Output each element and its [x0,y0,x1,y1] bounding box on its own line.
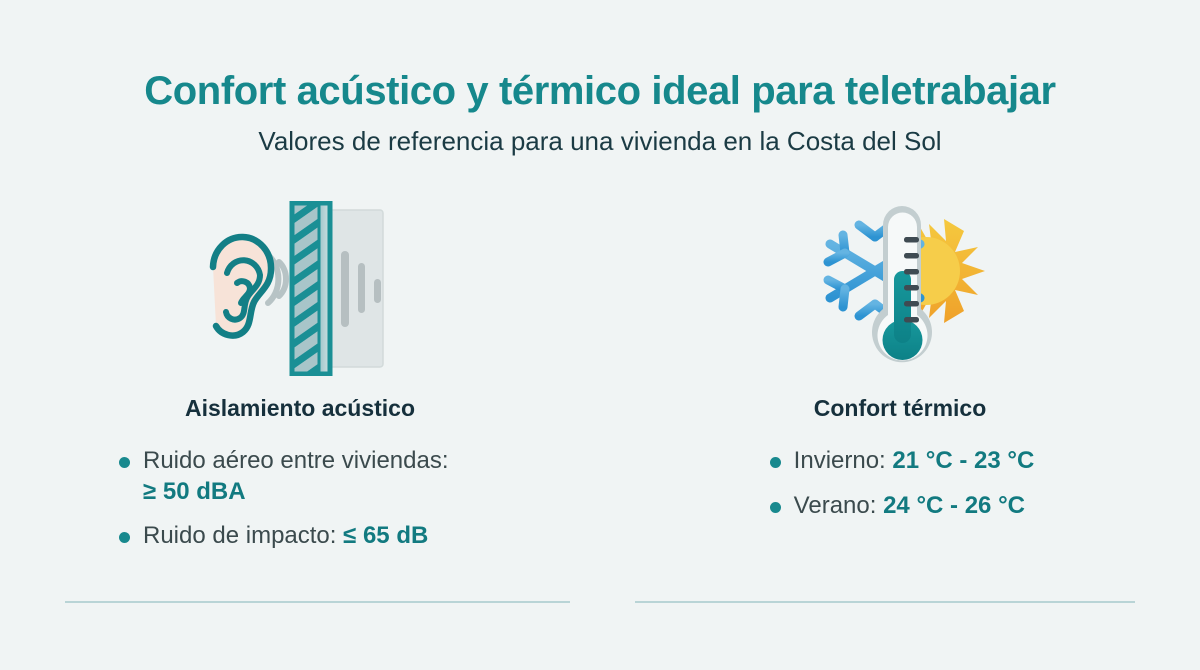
list-item: Ruido aéreo entre viviendas: ≥ 50 dBA [119,446,473,507]
bullet-text: Invierno: 21 °C - 23 °C [794,446,1035,477]
divider-right [635,601,1135,603]
bullet-dot-icon [119,457,130,468]
bullet-value: ≤ 65 dB [343,522,428,549]
bullet-value: 21 °C - 23 °C [892,447,1034,474]
bullet-value: 24 °C - 26 °C [883,492,1025,519]
ear-soundwave-wall-icon [195,196,405,381]
bullet-text: Ruido aéreo entre viviendas: ≥ 50 dBA [143,446,473,507]
infographic-canvas: Confort acústico y térmico ideal para te… [0,0,1200,670]
page-subtitle: Valores de referencia para una vivienda … [0,126,1200,157]
page-title: Confort acústico y térmico ideal para te… [0,68,1200,114]
section-thermal: Confort térmico Invierno: 21 °C - 23 °C … [600,196,1200,552]
section-heading-thermal: Confort térmico [814,395,987,422]
list-item: Ruido de impacto: ≤ 65 dB [119,521,473,552]
bullet-dot-icon [770,457,781,468]
bullet-value: ≥ 50 dBA [143,478,246,505]
bullet-text: Ruido de impacto: ≤ 65 dB [143,521,428,552]
bullet-list-acoustic: Ruido aéreo entre viviendas: ≥ 50 dBA Ru… [119,446,473,552]
columns-container: Aislamiento acústico Ruido aéreo entre v… [0,196,1200,552]
bullet-dot-icon [770,502,781,513]
bullet-list-thermal: Invierno: 21 °C - 23 °C Verano: 24 °C - … [770,446,1035,521]
divider-left [65,601,570,603]
list-item: Verano: 24 °C - 26 °C [770,491,1035,522]
section-acoustic: Aislamiento acústico Ruido aéreo entre v… [0,196,600,552]
bullet-label: Invierno: [794,447,893,474]
section-heading-acoustic: Aislamiento acústico [185,395,415,422]
list-item: Invierno: 21 °C - 23 °C [770,446,1035,477]
bullet-dot-icon [119,532,130,543]
bullet-label: Ruido aéreo entre viviendas: [143,447,449,474]
thermometer-snowflake-sun-icon [808,196,993,381]
bullet-text: Verano: 24 °C - 26 °C [794,491,1025,522]
bullet-label: Ruido de impacto: [143,522,343,549]
bullet-label: Verano: [794,492,883,519]
header: Confort acústico y térmico ideal para te… [0,68,1200,157]
